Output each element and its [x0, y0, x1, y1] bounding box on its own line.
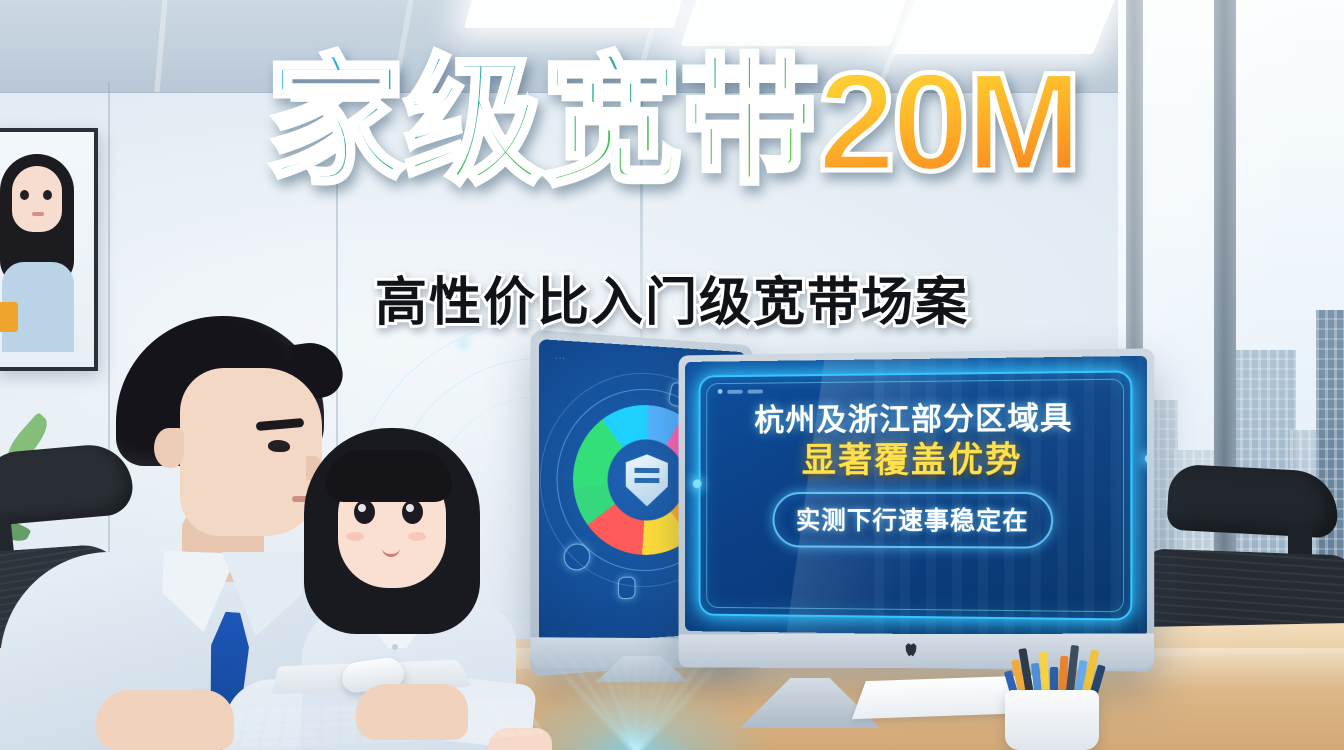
headline: 家级宽带20M	[0, 52, 1344, 192]
girl-eye	[402, 500, 423, 524]
screen-overlay-text: 杭州及浙江部分区域具 显著覆盖优势 实测下行速事稳定在	[685, 401, 1147, 549]
girl-cheek	[408, 532, 426, 541]
ceiling-light	[680, 0, 909, 46]
man-hand-left	[96, 690, 234, 750]
overlay-line-1: 杭州及浙江部分区域具	[702, 401, 1128, 439]
node-icon	[618, 576, 636, 599]
girl-bangs	[326, 450, 452, 502]
screen-topbar	[718, 389, 763, 394]
girl-buttons	[392, 644, 398, 650]
girl-eye	[354, 500, 375, 524]
topbar-dot-icon	[718, 389, 723, 394]
monitor-right[interactable]: 杭州及浙江部分区域具 显著覆盖优势 实测下行速事稳定在	[672, 352, 1150, 668]
monitor-left-status-label: ···	[556, 355, 566, 363]
topbar-bar-icon	[727, 389, 742, 393]
topbar-bar-icon	[748, 389, 763, 393]
ceiling-light	[464, 0, 686, 28]
headline-chinese: 家级宽带	[266, 43, 818, 200]
apple-logo-icon	[905, 642, 918, 657]
subheadline: 高性价比入门级宽带场案	[0, 260, 1344, 335]
man-hand-right	[356, 684, 468, 740]
girl-cheek	[346, 532, 364, 541]
pencil-cup	[1005, 690, 1099, 750]
overlay-line-2: 显著覆盖优势	[702, 441, 1128, 481]
man-ear	[154, 428, 184, 468]
chair-headrest	[1166, 464, 1339, 539]
monitor-right-screen[interactable]: 杭州及浙江部分区域具 显著覆盖优势 实测下行速事稳定在	[685, 356, 1147, 637]
man-eye	[268, 440, 290, 452]
overlay-pill: 实测下行速事稳定在	[773, 492, 1054, 549]
portrait-mouth	[32, 212, 44, 216]
headline-number: 20M	[818, 43, 1078, 200]
poster-canvas: ···	[0, 0, 1344, 750]
